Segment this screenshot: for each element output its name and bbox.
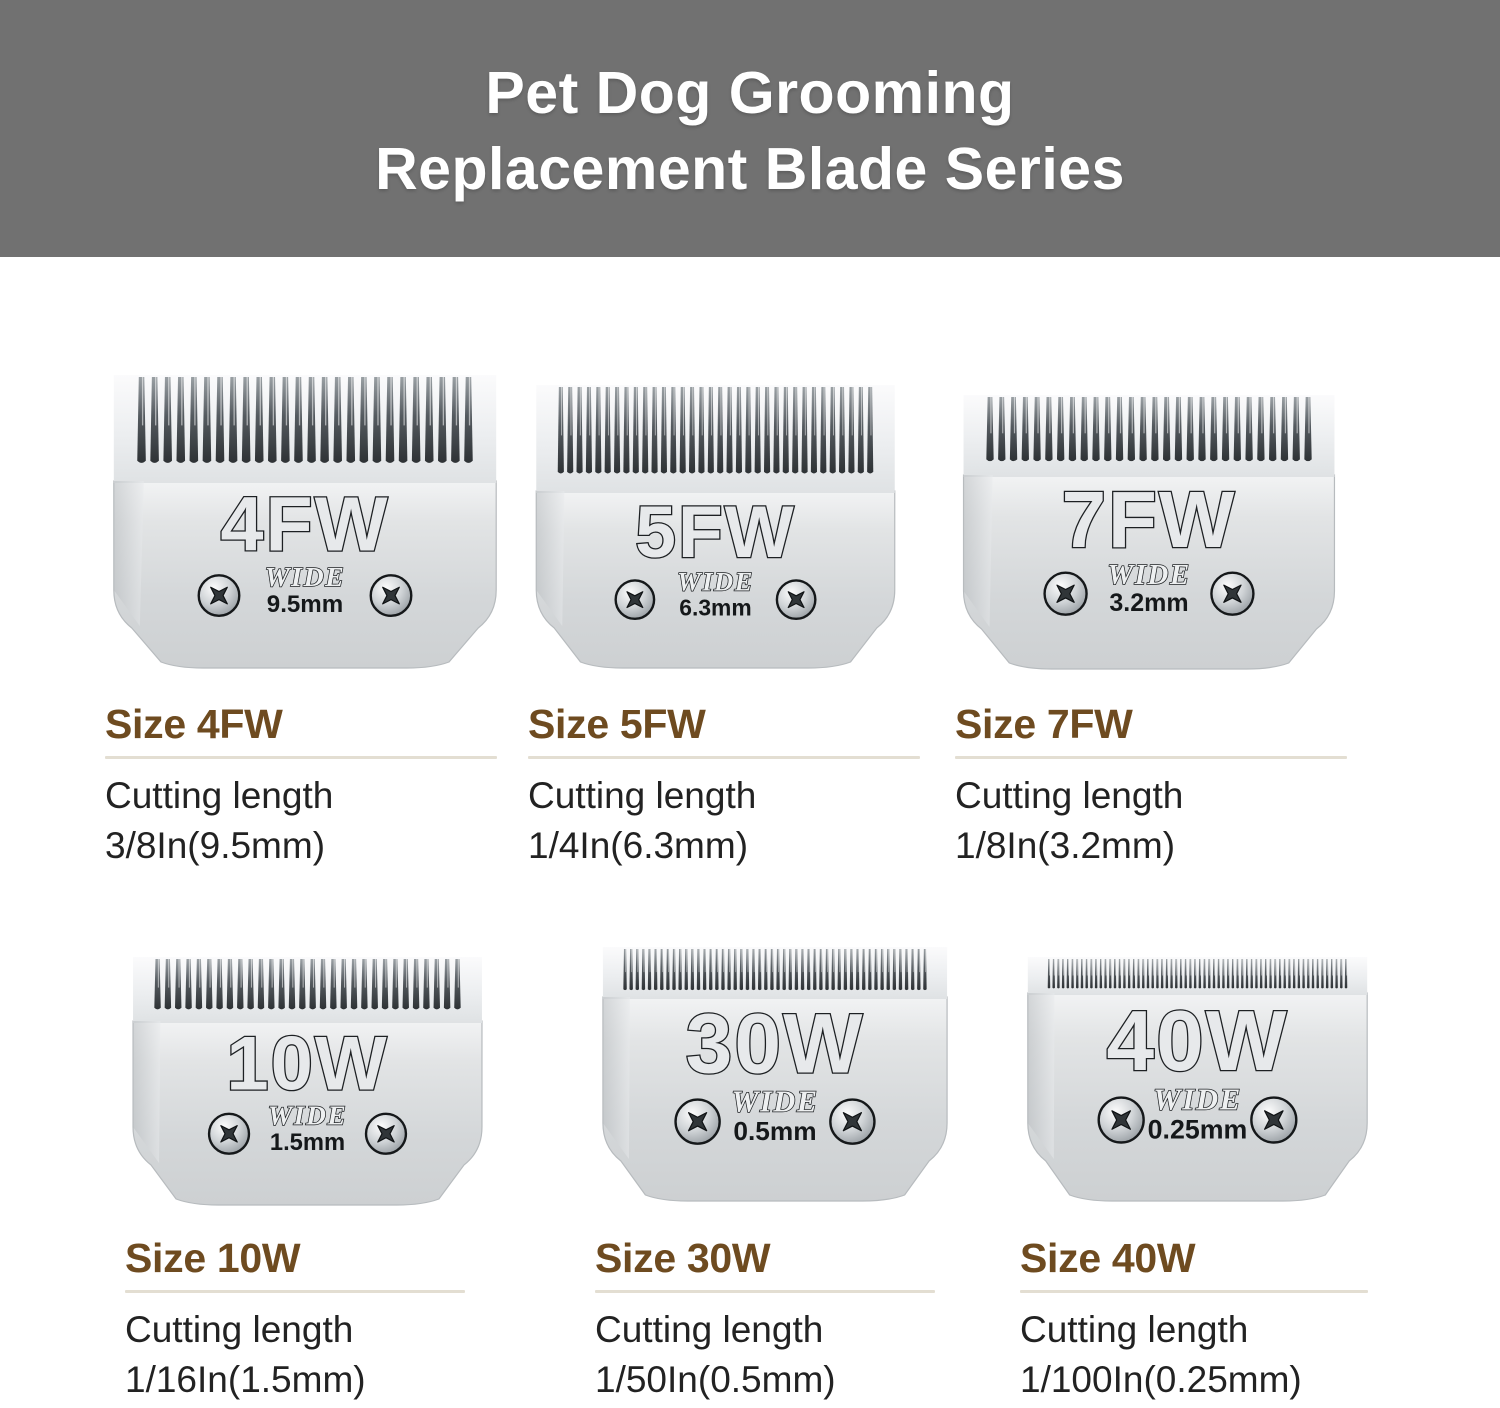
svg-text:5FW: 5FW (635, 491, 796, 573)
product-info-30w: Size 30W Cutting length 1/50In(0.5mm) (595, 1235, 935, 1405)
svg-text:30W: 30W (686, 997, 865, 1091)
svg-text:4FW: 4FW (221, 481, 390, 567)
cutting-label-5fw: Cutting length (528, 771, 920, 821)
blade-image-4fw: 4FWWIDE9.5mm (105, 369, 505, 674)
product-info-5fw: Size 5FW Cutting length 1/4In(6.3mm) (528, 701, 920, 871)
product-row-top: 4FWWIDE9.5mm Size 4FW Cutting length 3/8… (0, 257, 1500, 887)
product-info-40w: Size 40W Cutting length 1/100In(0.25mm) (1020, 1235, 1368, 1405)
cutting-value-4fw: 3/8In(9.5mm) (105, 821, 497, 871)
header-title-line-2: Replacement Blade Series (375, 131, 1125, 207)
svg-text:0.25mm: 0.25mm (1148, 1115, 1248, 1145)
title-divider-30w (595, 1290, 935, 1293)
product-title-30w: Size 30W (595, 1235, 935, 1281)
cutting-value-10w: 1/16In(1.5mm) (125, 1355, 465, 1405)
product-info-7fw: Size 7FW Cutting length 1/8In(3.2mm) (955, 701, 1347, 871)
blade-image-10w: 10WWIDE1.5mm (125, 949, 490, 1211)
svg-text:9.5mm: 9.5mm (267, 591, 343, 618)
header-banner: Pet Dog Grooming Replacement Blade Serie… (0, 0, 1500, 257)
cutting-label-4fw: Cutting length (105, 771, 497, 821)
svg-text:WIDE: WIDE (677, 567, 754, 597)
svg-text:6.3mm: 6.3mm (679, 594, 751, 620)
cutting-value-40w: 1/100In(0.25mm) (1020, 1355, 1368, 1405)
svg-text:WIDE: WIDE (1107, 559, 1190, 591)
svg-text:WIDE: WIDE (265, 562, 346, 593)
product-info-4fw: Size 4FW Cutting length 3/8In(9.5mm) (105, 701, 497, 871)
title-divider-4fw (105, 756, 497, 759)
svg-text:7FW: 7FW (1062, 475, 1237, 564)
product-info-10w: Size 10W Cutting length 1/16In(1.5mm) (125, 1235, 465, 1405)
cutting-label-30w: Cutting length (595, 1305, 935, 1355)
blade-image-7fw: 7FWWIDE3.2mm (955, 387, 1343, 675)
cutting-label-40w: Cutting length (1020, 1305, 1368, 1355)
svg-text:1.5mm: 1.5mm (270, 1129, 345, 1156)
svg-text:0.5mm: 0.5mm (733, 1116, 816, 1146)
product-title-40w: Size 40W (1020, 1235, 1368, 1281)
cutting-value-5fw: 1/4In(6.3mm) (528, 821, 920, 871)
blade-image-40w: 40WWIDE0.25mm (1020, 949, 1375, 1207)
product-row-bottom: 10WWIDE1.5mm Size 10W Cutting length 1/1… (0, 887, 1500, 1408)
cutting-label-10w: Cutting length (125, 1305, 465, 1355)
blade-image-30w: 30WWIDE0.5mm (595, 939, 955, 1207)
svg-text:WIDE: WIDE (268, 1100, 347, 1131)
svg-text:10W: 10W (226, 1021, 388, 1106)
product-title-4fw: Size 4FW (105, 701, 497, 747)
cutting-value-7fw: 1/8In(3.2mm) (955, 821, 1347, 871)
product-title-7fw: Size 7FW (955, 701, 1347, 747)
title-divider-5fw (528, 756, 920, 759)
cutting-label-7fw: Cutting length (955, 771, 1347, 821)
header-title-line-1: Pet Dog Grooming (485, 55, 1014, 131)
cutting-value-30w: 1/50In(0.5mm) (595, 1355, 935, 1405)
product-title-5fw: Size 5FW (528, 701, 920, 747)
svg-text:3.2mm: 3.2mm (1109, 589, 1188, 617)
svg-text:WIDE: WIDE (1153, 1082, 1242, 1117)
product-grid: 4FWWIDE9.5mm Size 4FW Cutting length 3/8… (0, 257, 1500, 1408)
title-divider-10w (125, 1290, 465, 1293)
blade-image-5fw: 5FWWIDE6.3mm (528, 379, 903, 674)
product-title-10w: Size 10W (125, 1235, 465, 1281)
svg-text:40W: 40W (1107, 994, 1289, 1089)
svg-text:WIDE: WIDE (731, 1084, 818, 1118)
title-divider-40w (1020, 1290, 1368, 1293)
title-divider-7fw (955, 756, 1347, 759)
